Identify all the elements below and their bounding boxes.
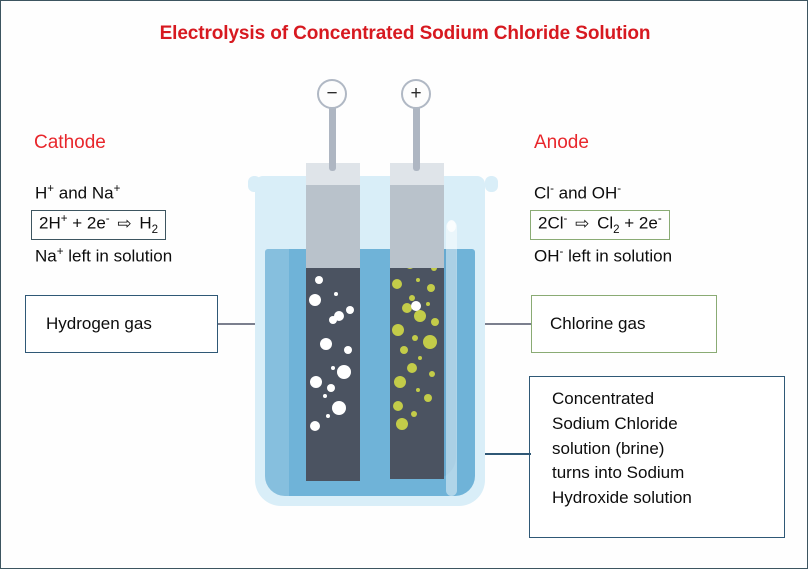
chlorine-bubble [396,418,408,430]
chlorine-bubble [394,376,406,388]
chlorine-gas-label: Chlorine gas [550,314,645,334]
cathode-wire [329,101,336,171]
hydrogen-bubble [320,338,332,350]
negative-terminal-symbol: − [326,84,337,103]
cathode-half-equation: 2H+ + 2e- ⇨ H2 [31,210,166,240]
brine-solution-callout: Concentrated Sodium Chloride solution (b… [529,376,785,538]
brine-line: Sodium Chloride [552,412,784,437]
chlorine-bubble [416,278,420,282]
hydrogen-bubble [344,346,352,354]
hydrogen-bubble [337,365,351,379]
negative-terminal-icon: − [317,79,347,109]
hydrogen-bubble [310,421,320,431]
chlorine-bubble [392,324,404,336]
bubble-highlight [411,301,421,311]
chlorine-bubble [418,356,422,360]
positive-terminal-symbol: + [410,84,421,103]
chlorine-bubble [429,371,435,377]
glass-highlight [446,221,457,496]
anode-heading: Anode [534,132,589,154]
brine-line: turns into Sodium [552,461,784,486]
chlorine-bubble [424,394,432,402]
hydrogen-bubble [315,276,323,284]
chlorine-bubble [426,302,430,306]
chlorine-bubble [427,284,435,292]
beaker-rim-right [485,176,498,192]
hydrogen-bubble [310,376,322,388]
brine-line: Concentrated [552,387,784,412]
anode-remaining-ion-label: OH- left in solution [534,246,672,267]
liquid-sheen [265,249,289,496]
cathode-remaining-ion-label: Na+ left in solution [35,246,172,267]
chlorine-bubble [400,346,408,354]
chlorine-gas-callout: Chlorine gas [531,295,717,353]
diagram-canvas: Electrolysis of Concentrated Sodium Chlo… [0,0,808,569]
electrolysis-cell-illustration: − + [248,71,498,521]
cathode-electrode [306,246,360,481]
hydrogen-bubble [331,366,335,370]
chlorine-bubble [407,363,417,373]
hydrogen-bubble [334,292,338,296]
hydrogen-bubble [309,294,321,306]
anode-half-equation: 2Cl- ⇨ Cl2 + 2e- [530,210,670,240]
hydrogen-bubble [323,394,327,398]
cathode-ions-label: H+ and Na+ [35,183,120,204]
chlorine-bubble [414,310,426,322]
anode-wire [413,101,420,171]
hydrogen-gas-callout: Hydrogen gas [25,295,218,353]
brine-line: Hydroxide solution [552,486,784,511]
positive-terminal-icon: + [401,79,431,109]
cathode-heading: Cathode [34,132,106,154]
chlorine-bubble [412,335,418,341]
chlorine-bubble [392,279,402,289]
glass-highlight-dot [447,220,456,232]
chlorine-bubble [411,411,417,417]
hydrogen-gas-label: Hydrogen gas [46,314,152,334]
chlorine-bubble [423,335,437,349]
hydrogen-bubble [346,306,354,314]
anode-ions-label: Cl- and OH- [534,183,621,204]
hydrogen-bubble [332,401,346,415]
chlorine-bubble [431,318,439,326]
chlorine-bubble [393,401,403,411]
brine-line: solution (brine) [552,437,784,462]
page-title: Electrolysis of Concentrated Sodium Chlo… [1,23,808,45]
anode-electrode [390,246,444,479]
hydrogen-bubble [327,384,335,392]
hydrogen-bubble [329,316,337,324]
chlorine-bubble [416,388,420,392]
hydrogen-bubble [326,414,330,418]
